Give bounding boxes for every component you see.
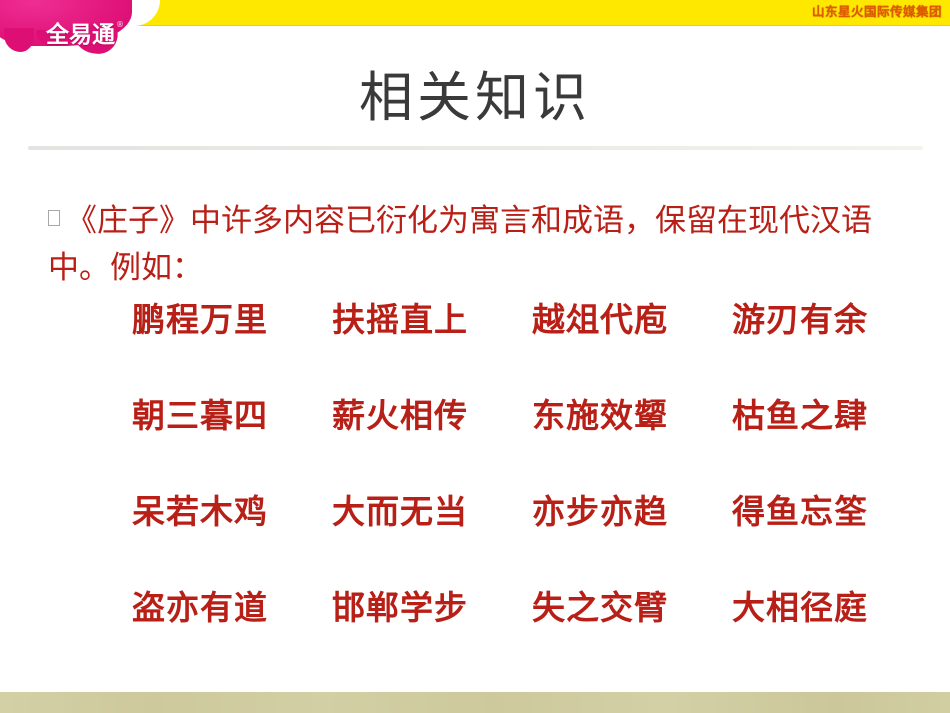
idiom-cell: 朝三暮四: [100, 388, 300, 444]
idiom-cell: 鹏程万里: [100, 292, 300, 348]
idiom-cell: 亦步亦趋: [500, 484, 700, 540]
intro-paragraph: 《庄子》中许多内容已衍化为寓言和成语，保留在现代汉语中。例如：: [48, 198, 916, 292]
idiom-cell: 东施效颦: [500, 388, 700, 444]
idiom-row: 鹏程万里 扶摇直上 越俎代庖 游刃有余: [100, 292, 900, 388]
idiom-cell: 游刃有余: [700, 292, 900, 348]
bullet-marker-icon: [48, 210, 60, 226]
idiom-row: 盗亦有道 邯郸学步 失之交臂 大相径庭: [100, 580, 900, 676]
idiom-row: 呆若木鸡 大而无当 亦步亦趋 得鱼忘筌: [100, 484, 900, 580]
footer-bar: [0, 692, 950, 713]
logo-text: 全易通: [46, 22, 115, 48]
idiom-cell: 薪火相传: [300, 388, 500, 444]
brand-name-text: 山东星火国际传媒集团: [812, 1, 942, 23]
header-yellow-bar: [0, 0, 950, 26]
title-divider: [28, 146, 923, 150]
idiom-row: 朝三暮四 薪火相传 东施效颦 枯鱼之肆: [100, 388, 900, 484]
idiom-cell: 大相径庭: [700, 580, 900, 636]
slide: 山东星火国际传媒集团 全易通 ® 相关知识 《庄子》中许多内容已衍化为寓言和成语…: [0, 0, 950, 713]
idiom-cell: 得鱼忘筌: [700, 484, 900, 540]
idiom-cell: 盗亦有道: [100, 580, 300, 636]
idiom-cell: 大而无当: [300, 484, 500, 540]
idiom-cell: 越俎代庖: [500, 292, 700, 348]
page-title: 相关知识: [0, 62, 950, 134]
idiom-cell: 扶摇直上: [300, 292, 500, 348]
idiom-cell: 邯郸学步: [300, 580, 500, 636]
idiom-grid: 鹏程万里 扶摇直上 越俎代庖 游刃有余 朝三暮四 薪火相传 东施效颦 枯鱼之肆 …: [100, 292, 900, 676]
intro-paragraph-text: 《庄子》中许多内容已衍化为寓言和成语，保留在现代汉语中。例如：: [48, 203, 872, 286]
idiom-cell: 失之交臂: [500, 580, 700, 636]
idiom-cell: 枯鱼之肆: [700, 388, 900, 444]
slide-header: 山东星火国际传媒集团 全易通 ®: [0, 0, 950, 56]
registered-trademark-icon: ®: [116, 20, 124, 29]
idiom-cell: 呆若木鸡: [100, 484, 300, 540]
